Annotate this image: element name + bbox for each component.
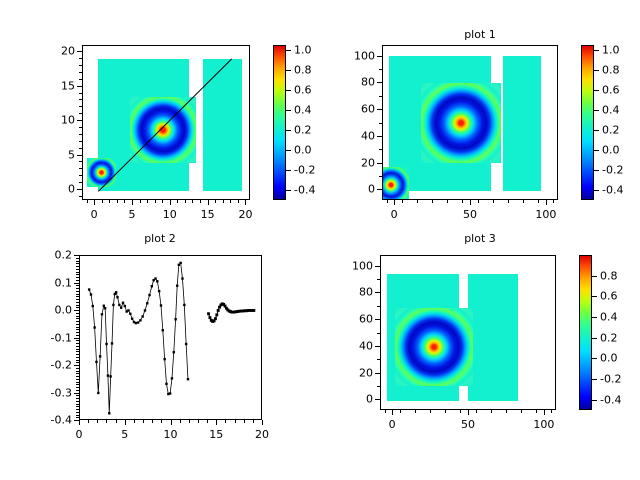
data-point-marker <box>116 296 118 298</box>
image-block-b <box>503 56 541 191</box>
axis-tick-x-minor <box>244 420 245 423</box>
colorbar-label: 0.8 <box>602 64 620 77</box>
axis-tick-x-minor <box>462 200 463 203</box>
data-point-marker <box>139 319 141 321</box>
axis-tick-x <box>544 410 545 415</box>
axis-tick-y-minor <box>76 332 79 333</box>
axis-tick-y-minor <box>379 96 382 97</box>
data-point-marker <box>185 343 187 345</box>
axis-tick-y-minor <box>76 343 79 344</box>
axis-tick-x-minor <box>417 200 418 203</box>
colorbar-label: 0.6 <box>600 290 618 303</box>
axis-tick-x-minor <box>235 420 236 423</box>
axis-tick-x-minor <box>134 420 135 423</box>
axis-label-x: 15 <box>196 428 236 441</box>
axis-label-y: 40 <box>330 129 375 142</box>
axis-tick-x-minor <box>230 200 231 203</box>
colorbar-tick <box>286 190 291 191</box>
axis-tick-x-minor <box>553 200 554 203</box>
axis-label-y: 100 <box>328 259 373 272</box>
colorbar-label: 0.8 <box>600 269 618 282</box>
axis-tick-y-minor <box>76 415 79 416</box>
axis-tick-y-minor <box>76 417 79 418</box>
axis-tick-y-minor <box>79 106 82 107</box>
colorbar-tick <box>592 296 597 297</box>
axis-label-x: 100 <box>524 418 564 431</box>
axis-tick-x-minor <box>155 200 156 203</box>
axis-tick-y-minor <box>379 176 382 177</box>
axis-tick-y-minor <box>377 279 380 280</box>
axis-tick-x-minor <box>140 200 141 203</box>
axis-tick-y-minor <box>76 373 79 374</box>
axis-tick-y-minor <box>379 56 382 57</box>
axis-tick-x-minor <box>152 420 153 423</box>
axis-tick-y-minor <box>379 149 382 150</box>
panel-bottom-left-title: plot 2 <box>60 232 260 245</box>
axis-tick-y-minor <box>79 93 82 94</box>
colorbar-tick <box>594 90 599 91</box>
axis-tick-y-minor <box>79 72 82 73</box>
axis-tick-y-minor <box>76 280 79 281</box>
axis-tick-x-minor <box>415 410 416 413</box>
axis-tick-x-minor <box>97 420 98 423</box>
axis-label-y: -0.3 <box>27 386 72 399</box>
axis-tick-x-minor <box>109 200 110 203</box>
colorbar-label: 0.8 <box>294 64 312 77</box>
axis-label-y: 0 <box>328 393 373 406</box>
axis-label-x: 10 <box>150 208 190 221</box>
axis-label-x: 0 <box>74 208 114 221</box>
axis-label-x: 50 <box>448 418 488 431</box>
data-point-marker <box>137 321 139 323</box>
data-point-marker <box>169 392 171 394</box>
colorbar-tick <box>592 400 597 401</box>
ring-peak-small <box>382 167 409 200</box>
axis-tick-x-minor <box>430 410 431 413</box>
axis-tick-y-minor <box>379 109 382 110</box>
data-point-marker <box>146 302 148 304</box>
data-point-marker <box>181 277 183 279</box>
figure-canvas: plot 1 plot 2 plot 3 0510152005101520-0.… <box>0 0 640 480</box>
axis-label-y: 0 <box>330 183 375 196</box>
axis-tick-y-minor <box>76 357 79 358</box>
axis-tick-y-minor <box>76 395 79 396</box>
axis-tick-x-minor <box>106 420 107 423</box>
axis-tick-y-minor <box>79 161 82 162</box>
axis-tick-y-minor <box>379 136 382 137</box>
axis-tick-x-minor <box>94 200 95 203</box>
axes-top-right[interactable] <box>382 45 558 200</box>
axis-tick-y-minor <box>76 288 79 289</box>
data-point-marker <box>156 280 158 282</box>
axis-tick-y-minor <box>76 412 79 413</box>
axis-tick-y-minor <box>76 305 79 306</box>
colorbar-tick <box>286 170 291 171</box>
axis-tick-x-minor <box>262 420 263 423</box>
line-series-segment-1 <box>89 263 188 413</box>
colorbar-tick <box>286 90 291 91</box>
colorbar-label: -0.4 <box>600 393 621 406</box>
axis-tick-x-minor <box>215 200 216 203</box>
axis-tick-y-minor <box>76 406 79 407</box>
axis-tick-y-minor <box>76 409 79 410</box>
axis-tick-y-minor <box>76 324 79 325</box>
colorbar-tick <box>592 317 597 318</box>
axis-tick-x-minor <box>124 200 125 203</box>
axis-tick-y-minor <box>76 382 79 383</box>
axis-tick-x-minor <box>116 420 117 423</box>
colorbar-label: 0.0 <box>602 144 620 157</box>
axis-tick-x-minor <box>177 200 178 203</box>
axis-tick-x <box>392 410 393 415</box>
axis-label-y: 20 <box>330 156 375 169</box>
axis-tick-x-minor <box>385 410 386 413</box>
axis-tick-x-minor <box>180 420 181 423</box>
axis-label-y: 60 <box>330 103 375 116</box>
colorbar-tick <box>592 276 597 277</box>
axis-tick-y-minor <box>377 333 380 334</box>
data-point-marker <box>93 326 95 328</box>
axis-tick-x-minor <box>400 410 401 413</box>
axis-label-x: 0 <box>59 428 99 441</box>
colorbar-label: 0.6 <box>602 84 620 97</box>
colorbar-label: 0.0 <box>294 144 312 157</box>
axis-tick-y-minor <box>377 292 380 293</box>
data-point-marker <box>252 309 255 312</box>
axis-tick-y-minor <box>79 86 82 87</box>
data-point-marker <box>105 343 107 345</box>
colorbar-tick <box>592 358 597 359</box>
axis-label-y: 20 <box>328 366 373 379</box>
colorbar-tick <box>594 70 599 71</box>
axis-tick-x-minor <box>88 420 89 423</box>
axis-tick-y-minor <box>76 335 79 336</box>
axis-tick-x-minor <box>402 200 403 203</box>
axis-label-y: 80 <box>330 76 375 89</box>
line-plot-svg <box>80 256 262 420</box>
data-point-marker <box>112 304 114 306</box>
axis-tick-x-minor <box>171 420 172 423</box>
data-point-marker <box>217 309 220 312</box>
axis-tick-y-minor <box>76 368 79 369</box>
axis-label-y: 10 <box>30 114 75 127</box>
axis-tick-x-minor <box>476 410 477 413</box>
axis-tick-y-minor <box>76 346 79 347</box>
axis-label-y: 0.1 <box>27 276 72 289</box>
axis-label-y: 0.0 <box>27 304 72 317</box>
axis-tick-y-minor <box>76 316 79 317</box>
axis-tick-y-minor <box>76 390 79 391</box>
data-point-marker <box>88 288 90 290</box>
axis-tick-x-minor <box>192 200 193 203</box>
data-point-marker <box>160 304 162 306</box>
data-point-marker <box>90 293 92 295</box>
axis-tick-y-minor <box>79 155 82 156</box>
axis-tick-y-minor <box>76 261 79 262</box>
axis-tick-y-minor <box>76 393 79 394</box>
axis-tick-y-minor <box>377 359 380 360</box>
axis-tick-y-minor <box>76 340 79 341</box>
colorbar-label: 0.2 <box>294 124 312 137</box>
colorbar-tick <box>286 110 291 111</box>
axis-tick-y-minor <box>79 58 82 59</box>
ring-peak-large <box>395 308 473 386</box>
colorbar-tick <box>594 110 599 111</box>
axis-tick-x-minor <box>523 200 524 203</box>
data-point-marker <box>154 277 156 279</box>
axis-tick-x-minor <box>185 200 186 203</box>
data-point-marker <box>107 374 109 376</box>
axis-tick-y-minor <box>79 175 82 176</box>
axis-tick-y-minor <box>379 82 382 83</box>
axis-tick-y-minor <box>76 299 79 300</box>
axis-label-y: 60 <box>328 313 373 326</box>
data-point-marker <box>118 304 120 306</box>
axis-tick-x <box>546 200 547 205</box>
colorbar-tick <box>286 50 291 51</box>
axis-label-x: 5 <box>105 428 145 441</box>
colorbar-tick <box>594 130 599 131</box>
axis-tick-y-minor <box>79 113 82 114</box>
axis-tick-y-minor <box>79 65 82 66</box>
axis-tick-y-minor <box>76 327 79 328</box>
colorbar-tick <box>286 70 291 71</box>
axis-label-y: -0.2 <box>27 359 72 372</box>
data-point-marker <box>176 285 178 287</box>
colorbar-label: -0.2 <box>600 373 621 386</box>
data-point-marker <box>108 412 110 414</box>
colorbar <box>579 255 592 410</box>
colorbar-label: 1.0 <box>602 44 620 57</box>
axis-tick-x-minor <box>198 420 199 423</box>
colorbar-tick <box>592 379 597 380</box>
axis-label-y: -0.1 <box>27 331 72 344</box>
data-point-marker <box>104 307 106 309</box>
data-point-marker <box>163 358 165 360</box>
axes-bottom-right[interactable] <box>380 255 556 410</box>
ring-peak-small <box>87 158 116 187</box>
image-block-b <box>203 59 242 192</box>
panel-bottom-right-title: plot 3 <box>385 232 575 245</box>
data-point-marker <box>95 361 97 363</box>
axis-tick-x-minor <box>432 200 433 203</box>
axis-tick-x-minor <box>460 410 461 413</box>
axis-tick-y-minor <box>76 365 79 366</box>
axis-tick-x-minor <box>387 200 388 203</box>
axis-tick-y-minor <box>79 182 82 183</box>
axis-tick-y-minor <box>76 255 79 256</box>
axis-label-x: 50 <box>450 208 490 221</box>
axis-label-y: 5 <box>30 148 75 161</box>
axis-tick-y-minor <box>76 376 79 377</box>
axis-tick-x-minor <box>223 200 224 203</box>
axis-tick-y-minor <box>76 329 79 330</box>
axis-tick-x-minor <box>536 410 537 413</box>
colorbar <box>581 45 594 200</box>
colorbar-label: 0.0 <box>600 352 618 365</box>
colorbar-tick <box>594 170 599 171</box>
axis-tick-x-minor <box>132 200 133 203</box>
colorbar-label: -0.4 <box>602 184 623 197</box>
axis-tick-y-minor <box>76 401 79 402</box>
data-point-marker <box>151 285 153 287</box>
axis-tick-x-minor <box>161 420 162 423</box>
colorbar-tick <box>592 338 597 339</box>
axis-tick-x-minor <box>493 200 494 203</box>
axis-tick-y-minor <box>76 338 79 339</box>
axis-tick-y-minor <box>79 148 82 149</box>
axis-tick-y-minor <box>76 398 79 399</box>
axis-tick-y-minor <box>76 379 79 380</box>
axis-tick-y-minor <box>79 99 82 100</box>
data-point-marker <box>215 313 218 316</box>
colorbar-label: 0.4 <box>600 311 618 324</box>
axis-tick-y-minor <box>76 285 79 286</box>
axis-tick-y-minor <box>79 134 82 135</box>
data-point-marker <box>174 318 176 320</box>
axis-tick-y-minor <box>377 319 380 320</box>
data-point-marker <box>103 305 105 307</box>
colorbar-tick <box>286 150 291 151</box>
colorbar-label: 0.6 <box>294 84 312 97</box>
axis-tick-y-minor <box>379 69 382 70</box>
ring-peak-large <box>130 97 196 163</box>
axis-tick-y-minor <box>76 277 79 278</box>
axis-tick-y-minor <box>79 127 82 128</box>
axis-tick-y-minor <box>377 386 380 387</box>
axis-tick-x-minor <box>117 200 118 203</box>
axis-tick-x-minor <box>102 200 103 203</box>
data-point-marker <box>135 322 137 324</box>
axis-tick-x-minor <box>125 420 126 423</box>
colorbar-label: -0.2 <box>294 164 315 177</box>
axis-label-x: 15 <box>188 208 228 221</box>
axis-tick-y-minor <box>79 189 82 190</box>
axis-label-x: 20 <box>225 208 265 221</box>
axis-tick-y-minor <box>377 266 380 267</box>
axis-tick-y-minor <box>79 196 82 197</box>
axis-label-y: -0.4 <box>27 414 72 427</box>
data-point-marker <box>207 312 210 315</box>
axis-tick-y-minor <box>76 313 79 314</box>
data-point-marker <box>187 378 189 380</box>
axis-tick-y-minor <box>76 307 79 308</box>
axis-tick-x-minor <box>207 420 208 423</box>
axis-tick-y-minor <box>76 296 79 297</box>
data-point-marker <box>99 355 101 357</box>
axis-tick-x-minor <box>521 410 522 413</box>
axis-tick-y-minor <box>76 362 79 363</box>
axis-tick-y-minor <box>79 79 82 80</box>
axis-tick-x <box>394 200 395 205</box>
data-point-marker <box>131 318 133 320</box>
axis-tick-y-minor <box>76 321 79 322</box>
data-point-marker <box>158 290 160 292</box>
colorbar-label: 1.0 <box>294 44 312 57</box>
axis-label-y: 0 <box>30 182 75 195</box>
data-point-marker <box>122 302 124 304</box>
axis-tick-x-minor <box>162 200 163 203</box>
axis-label-y: 0.2 <box>27 249 72 262</box>
data-point-marker <box>109 375 111 377</box>
axis-tick-y-minor <box>76 387 79 388</box>
axis-label-x: 100 <box>526 208 566 221</box>
data-point-marker <box>183 304 185 306</box>
axis-tick-x-minor <box>147 200 148 203</box>
colorbar-label: 0.4 <box>294 104 312 117</box>
axis-tick-y-minor <box>76 360 79 361</box>
axis-label-x: 10 <box>151 428 191 441</box>
axis-tick-y-minor <box>377 306 380 307</box>
axis-tick-x-minor <box>506 410 507 413</box>
axis-tick-x <box>470 200 471 205</box>
data-point-marker <box>144 309 146 311</box>
axis-tick-y-minor <box>76 310 79 311</box>
axis-tick-x-minor <box>170 200 171 203</box>
axis-tick-y-minor <box>76 384 79 385</box>
axis-label-x: 20 <box>242 428 282 441</box>
axis-tick-y-minor <box>76 258 79 259</box>
colorbar-label: -0.2 <box>602 164 623 177</box>
axis-tick-y-minor <box>379 163 382 164</box>
axis-tick-y-minor <box>76 266 79 267</box>
axis-label-x: 0 <box>372 418 412 431</box>
axes-bottom-left[interactable] <box>79 255 262 420</box>
data-point-marker <box>214 317 217 320</box>
colorbar <box>273 45 286 200</box>
axis-tick-x-minor <box>447 200 448 203</box>
axis-label-y: 80 <box>328 286 373 299</box>
axis-tick-y-minor <box>76 291 79 292</box>
data-point-marker <box>115 291 117 293</box>
axis-tick-y-minor <box>377 399 380 400</box>
axis-tick-y-minor <box>79 168 82 169</box>
axis-label-x: 5 <box>112 208 152 221</box>
axis-tick-x-minor <box>143 420 144 423</box>
axis-tick-y-minor <box>76 272 79 273</box>
axis-tick-y-minor <box>79 120 82 121</box>
colorbar-label: -0.4 <box>294 184 315 197</box>
axis-tick-y-minor <box>76 354 79 355</box>
axis-tick-x-minor <box>79 420 80 423</box>
data-point-marker <box>120 307 122 309</box>
data-point-marker <box>148 294 150 296</box>
colorbar-tick <box>594 150 599 151</box>
axis-tick-x-minor <box>508 200 509 203</box>
image-block-b <box>468 274 518 401</box>
axis-label-y: 40 <box>328 339 373 352</box>
axis-tick-y-minor <box>76 283 79 284</box>
axis-label-y: 20 <box>30 45 75 58</box>
axis-tick-y-minor <box>377 346 380 347</box>
axis-tick-y-minor <box>76 318 79 319</box>
data-point-marker <box>141 315 143 317</box>
data-point-marker <box>101 313 103 315</box>
axis-tick-x-minor <box>245 200 246 203</box>
colorbar-label: 0.4 <box>602 104 620 117</box>
data-point-marker <box>129 313 131 315</box>
axis-tick-x-minor <box>238 200 239 203</box>
colorbar-tick <box>286 130 291 131</box>
ring-peak-large <box>421 83 501 163</box>
colorbar-label: 0.2 <box>602 124 620 137</box>
axis-tick-y-minor <box>76 371 79 372</box>
axis-tick-y-minor <box>76 274 79 275</box>
data-point-marker <box>162 329 164 331</box>
axis-tick-x-minor <box>225 420 226 423</box>
axes-top-left[interactable] <box>82 45 250 200</box>
axis-label-y: 15 <box>30 79 75 92</box>
